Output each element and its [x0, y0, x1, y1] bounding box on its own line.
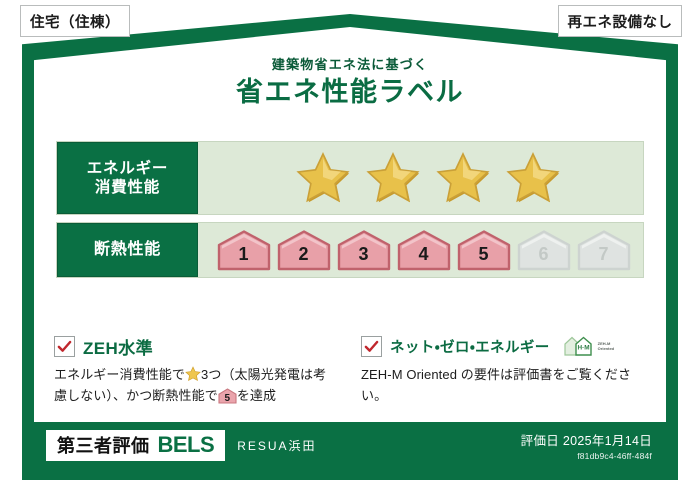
- zeh-standard-checkbox[interactable]: [54, 336, 75, 357]
- evaluation-date: 評価日 2025年1月14日: [521, 430, 652, 449]
- insulation-badge-scale: 1234567: [210, 229, 632, 271]
- certification-bar: 第三者評価 BELS RESUA浜田 評価日 2025年1月14日 f81db9…: [34, 422, 666, 468]
- energy-label-line2: 消費性能: [95, 178, 160, 197]
- insulation-badge-value: 4: [418, 244, 428, 271]
- star-icon: [434, 150, 492, 206]
- insulation-badge-value: 2: [298, 244, 308, 271]
- star-icon: [364, 150, 422, 206]
- energy-performance-label: 住宅（住棟） 再エネ設備なし 建築物省エネ法に基づく 省エネ性能ラベル いい部屋…: [0, 0, 700, 494]
- zeh-desc-post: を達成: [237, 388, 276, 403]
- star-icon: [504, 150, 562, 206]
- insulation-badge: 3: [336, 229, 392, 271]
- check-icon: [57, 339, 72, 354]
- building-type-tag: 住宅（住棟）: [20, 5, 130, 37]
- energy-consumption-row: エネルギー 消費性能: [56, 141, 644, 215]
- insulation-rating-body: 1234567: [198, 223, 643, 277]
- building-type-label: 住宅（住棟）: [30, 11, 120, 32]
- star-icon: [294, 150, 352, 206]
- zeh-standard-block: ZEH水準 エネルギー消費性能で 3つ（太陽光発電は考慮しない）、かつ断熱性能で…: [54, 334, 339, 406]
- insulation-performance-row: 断熱性能 1234567: [56, 222, 644, 278]
- insulation-badge-value: 5: [478, 244, 488, 271]
- star-rating: [280, 150, 562, 206]
- zeh-standard-head: ZEH水準: [54, 334, 339, 358]
- insulation-performance-label: 断熱性能: [57, 223, 198, 277]
- evaluation-date-value: 2025年1月14日: [563, 434, 652, 448]
- performance-rows: エネルギー 消費性能 断熱性能 1234567: [56, 141, 644, 278]
- evaluation-date-label: 評価日: [521, 434, 559, 448]
- net-zero-energy-title: ネット・ゼロ・エネルギー: [390, 336, 550, 357]
- zeh-desc-pre: エネルギー消費性能で: [54, 367, 185, 382]
- check-icon: [364, 339, 379, 354]
- renewable-energy-tag: 再エネ設備なし: [558, 5, 682, 37]
- insulation-label-line1: 断熱性能: [94, 240, 161, 260]
- energy-consumption-label: エネルギー 消費性能: [57, 142, 198, 214]
- evaluation-meta: 評価日 2025年1月14日 f81db9c4-46ff-484f: [521, 430, 652, 461]
- zeh-m-house-icon: H·M: [562, 334, 596, 358]
- inline-badge-value: 5: [218, 394, 237, 404]
- page-title: 省エネ性能ラベル: [0, 77, 700, 107]
- insulation-badge-value: 7: [598, 244, 608, 271]
- insulation-badge: 7: [576, 229, 632, 271]
- insulation-badge: 5: [456, 229, 512, 271]
- renewable-energy-label: 再エネ設備なし: [568, 11, 673, 32]
- insulation-badge-value: 3: [358, 244, 368, 271]
- zeh-m-logo-text: H·M: [577, 344, 589, 351]
- energy-rating-body: [198, 142, 643, 214]
- net-zero-energy-head: ネット・ゼロ・エネルギー H·M ZEH-M Oriented: [361, 334, 646, 358]
- inline-star-icon: [185, 366, 201, 382]
- bels-en-label: BELS: [158, 432, 215, 458]
- insulation-badge-value: 1: [238, 244, 248, 271]
- net-zero-energy-block: ネット・ゼロ・エネルギー H·M ZEH-M Oriented ZEH-M Or…: [361, 334, 646, 406]
- net-zero-energy-checkbox[interactable]: [361, 336, 382, 357]
- energy-label-line1: エネルギー: [87, 159, 169, 178]
- zeh-m-logo: H·M ZEH-M Oriented: [562, 334, 614, 358]
- insulation-badge: 4: [396, 229, 452, 271]
- net-zero-energy-description: ZEH-M Oriented の要件は評価書をご覧ください。: [361, 365, 646, 406]
- evaluation-id: f81db9c4-46ff-484f: [521, 451, 652, 461]
- insulation-badge: 1: [216, 229, 272, 271]
- zeh-m-logo-caption: ZEH-M Oriented: [598, 341, 614, 351]
- bels-badge: 第三者評価 BELS: [46, 430, 225, 461]
- zeh-standard-title: ZEH水準: [83, 334, 153, 359]
- insulation-badge: 2: [276, 229, 332, 271]
- inline-insulation-badge: 5: [218, 388, 237, 404]
- label-title-block: 建築物省エネ法に基づく 省エネ性能ラベル: [0, 58, 700, 108]
- zeh-standard-description: エネルギー消費性能で 3つ（太陽光発電は考慮しない）、かつ断熱性能で 5を達成: [54, 365, 339, 406]
- certification-checks: ZEH水準 エネルギー消費性能で 3つ（太陽光発電は考慮しない）、かつ断熱性能で…: [54, 334, 646, 406]
- insulation-badge-value: 6: [538, 244, 548, 271]
- evaluation-body-name: RESUA浜田: [237, 437, 316, 454]
- bels-jp-label: 第三者評価: [57, 432, 150, 458]
- zeh-m-caption-line2: Oriented: [598, 346, 614, 351]
- insulation-badge: 6: [516, 229, 572, 271]
- title-subtitle: 建築物省エネ法に基づく: [0, 58, 700, 72]
